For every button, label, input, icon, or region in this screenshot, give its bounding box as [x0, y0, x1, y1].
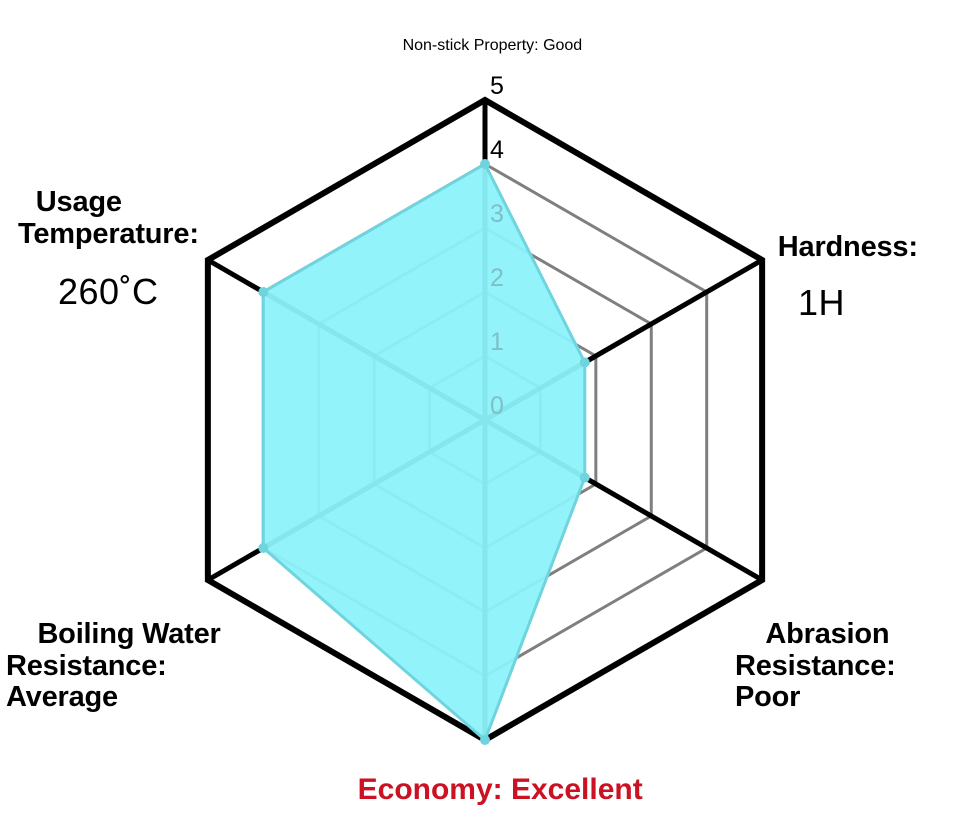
axis-label-hardness: Hardness: 1H [760, 215, 918, 357]
series-polygon [263, 164, 584, 740]
series-point-boiling-water-resistance [258, 543, 268, 553]
radial-tick-0: 0 [490, 392, 504, 420]
radial-tick-1: 1 [490, 328, 504, 356]
series-point-non-stick-property [480, 159, 490, 169]
radial-tick-5: 5 [490, 72, 504, 100]
radar-chart: 012345 Non-stick Property: Good Hardness… [0, 0, 967, 806]
series-area-coating-performance [263, 164, 584, 740]
axis-label-non-stick-property: Non-stick Property: Good [0, 20, 967, 72]
series-point-abrasion-resistance [580, 473, 590, 483]
axis-label-abrasion-resistance: AbrasionResistance:Poor [735, 588, 896, 745]
axis-label-usage-temperature-name: UsageTemperature: [18, 186, 199, 249]
radial-tick-2: 2 [490, 264, 504, 292]
series-point-usage-temperature [258, 287, 268, 297]
axis-label-usage-temperature: UsageTemperature: 260˚C [18, 170, 199, 347]
radial-tick-3: 3 [490, 200, 504, 228]
axis-label-economy: Economy: Excellent [0, 742, 967, 839]
axis-label-hardness-value: 1H [798, 284, 918, 323]
radial-tick-4: 4 [490, 136, 504, 164]
axis-label-hardness-name: Hardness: [778, 231, 918, 263]
series-point-hardness [580, 357, 590, 367]
axis-label-boiling-water-resistance-text: Boiling WaterResistance:Average [6, 618, 221, 713]
axis-label-boiling-water-resistance: Boiling WaterResistance:Average [6, 588, 221, 745]
axis-label-economy-text: Economy: Excellent [358, 773, 643, 806]
axis-label-usage-temperature-value: 260˚C [58, 273, 199, 312]
chart-title: Non-stick Property: Good [403, 37, 583, 54]
axis-label-abrasion-resistance-text: AbrasionResistance:Poor [735, 618, 896, 713]
